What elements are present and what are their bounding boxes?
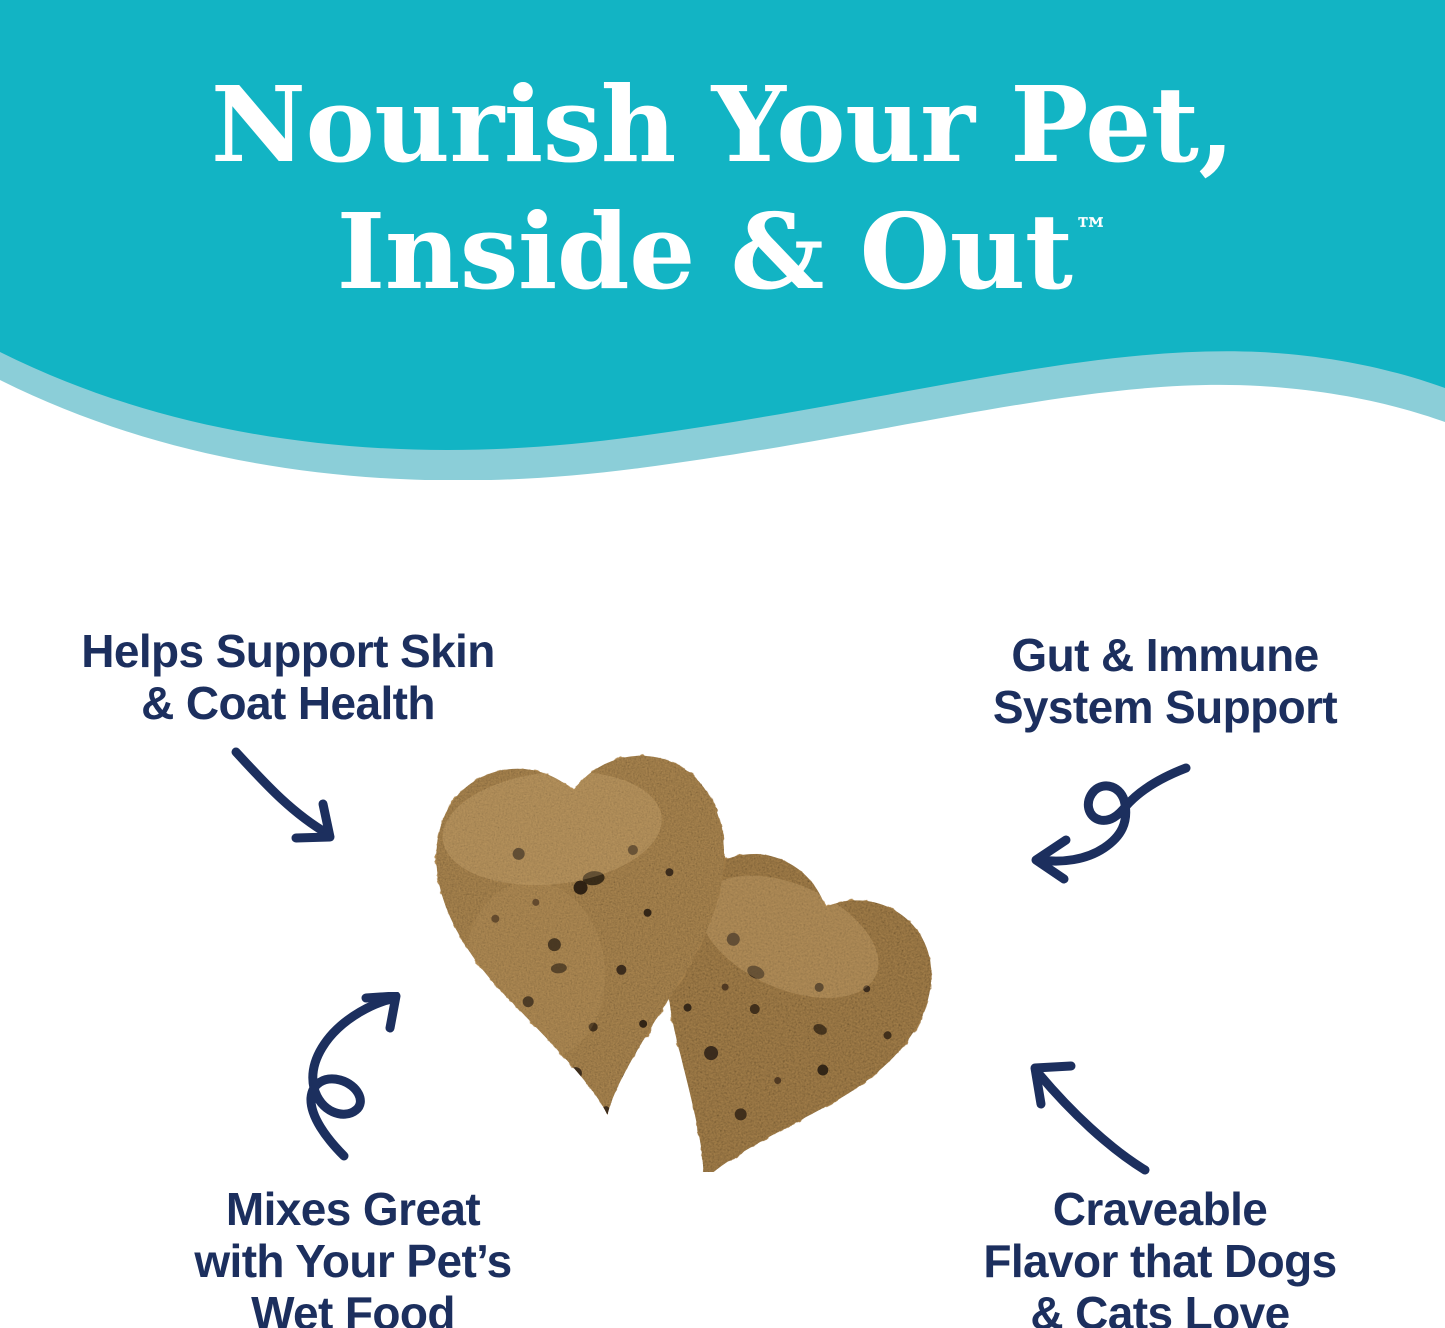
- benefit-line: Wet Food: [118, 1288, 588, 1328]
- benefit-line: & Coat Health: [18, 678, 558, 730]
- header-banner: Nourish Your Pet, Inside & Out™: [0, 0, 1445, 480]
- arrow-shaft-with-loop: [1040, 768, 1186, 861]
- benefit-line: with Your Pet’s: [118, 1236, 588, 1288]
- arrow-shaft: [236, 752, 328, 834]
- benefit-line: System Support: [930, 682, 1400, 734]
- benefit-line: Helps Support Skin: [18, 626, 558, 678]
- arrow-icon-top-left: [228, 742, 428, 872]
- arrow-head: [296, 804, 330, 838]
- arrow-shaft-with-loop: [311, 999, 392, 1156]
- page-title: Nourish Your Pet, Inside & Out™: [0, 62, 1445, 316]
- arrow-head: [366, 996, 396, 1028]
- benefit-label-mixes-with-wet-food: Mixes Great with Your Pet’s Wet Food: [118, 1184, 588, 1328]
- title-line-2-wrap: Inside & Out™: [0, 189, 1445, 316]
- benefit-line: & Cats Love: [920, 1288, 1400, 1328]
- benefit-label-gut-immune: Gut & Immune System Support: [930, 630, 1400, 734]
- product-kibble-image: [408, 752, 1048, 1172]
- benefit-line: Gut & Immune: [930, 630, 1400, 682]
- title-line-2: Inside & Out: [337, 190, 1073, 313]
- trademark-symbol: ™: [1074, 211, 1108, 251]
- benefit-line: Craveable: [920, 1184, 1400, 1236]
- benefit-label-skin-coat: Helps Support Skin & Coat Health: [18, 626, 558, 730]
- benefit-label-craveable-flavor: Craveable Flavor that Dogs & Cats Love: [920, 1184, 1400, 1328]
- kibble-hearts-graphic: [408, 752, 1048, 1172]
- benefit-line: Mixes Great: [118, 1184, 588, 1236]
- infographic-page: Nourish Your Pet, Inside & Out™ Helps Su…: [0, 0, 1445, 1328]
- arrow-shaft: [1039, 1074, 1145, 1170]
- benefit-line: Flavor that Dogs: [920, 1236, 1400, 1288]
- title-line-1: Nourish Your Pet,: [0, 62, 1445, 189]
